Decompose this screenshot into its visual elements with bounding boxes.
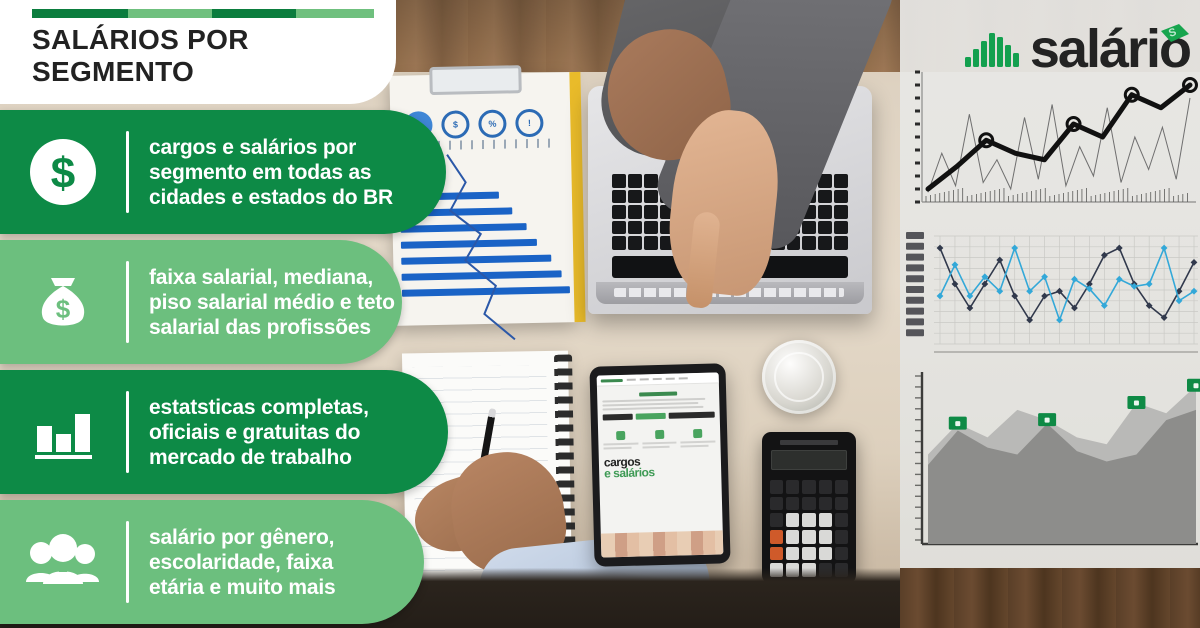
svg-text:$: $ bbox=[51, 149, 75, 198]
feature-list: $ cargos e salários por segmento em toda… bbox=[0, 110, 470, 628]
charts-panel-wood-base bbox=[900, 568, 1200, 628]
calculator bbox=[762, 432, 856, 584]
calculator-keypad bbox=[770, 480, 848, 577]
feature-item-2[interactable]: $ faixa salarial, mediana, piso salarial… bbox=[0, 240, 402, 364]
feature-text-2: faixa salarial, mediana, piso salarial m… bbox=[129, 265, 395, 340]
mountain-area-chart bbox=[900, 362, 1200, 568]
feature-text-3: estatsticas completas, oficiais e gratui… bbox=[129, 395, 369, 470]
report-icon-3: % bbox=[478, 109, 507, 138]
tablet-footer-image bbox=[601, 530, 724, 557]
tablet-headline-line2: e salários bbox=[604, 466, 716, 480]
dual-series-line-chart bbox=[900, 228, 1200, 364]
promo-banner: $ % ! bbox=[0, 0, 1200, 628]
charts-panel bbox=[900, 0, 1200, 628]
page-title: SALÁRIOS POR SEGMENTO bbox=[32, 24, 396, 88]
report-icon-4: ! bbox=[515, 109, 544, 138]
people-group-icon bbox=[0, 526, 126, 598]
money-bag-icon: $ bbox=[0, 266, 126, 338]
bar-chart-logo-icon bbox=[964, 27, 1022, 71]
bar-chart-icon bbox=[0, 396, 126, 468]
calculator-solar-panel bbox=[780, 440, 838, 445]
tablet-device: cargos e salários bbox=[589, 363, 730, 566]
tablet-headline: cargos e salários bbox=[599, 448, 722, 479]
clipboard-clip-icon bbox=[429, 65, 522, 95]
svg-text:$: $ bbox=[56, 294, 71, 324]
feature-item-4[interactable]: salário por gênero, escolaridade, faixa … bbox=[0, 500, 424, 624]
tablet-buttons bbox=[603, 412, 715, 421]
water-glass bbox=[762, 340, 836, 414]
feature-item-3[interactable]: estatsticas completas, oficiais e gratui… bbox=[0, 370, 448, 494]
title-card: SALÁRIOS POR SEGMENTO bbox=[0, 0, 396, 104]
tablet-hero bbox=[597, 383, 720, 425]
feature-text-4: salário por gênero, escolaridade, faixa … bbox=[129, 525, 335, 600]
feature-text-1: cargos e salários por segmento em todas … bbox=[129, 135, 393, 210]
logo[interactable]: salário S bbox=[964, 18, 1190, 80]
tablet-screen: cargos e salários bbox=[597, 372, 724, 557]
dollar-circle-icon: $ bbox=[0, 136, 126, 208]
money-bill-icon: S bbox=[1158, 22, 1192, 52]
trend-line-chart bbox=[900, 60, 1200, 232]
calculator-display bbox=[771, 450, 847, 470]
tablet-feature-cards bbox=[598, 428, 720, 451]
title-accent-bar bbox=[32, 9, 374, 18]
feature-item-1[interactable]: $ cargos e salários por segmento em toda… bbox=[0, 110, 446, 234]
